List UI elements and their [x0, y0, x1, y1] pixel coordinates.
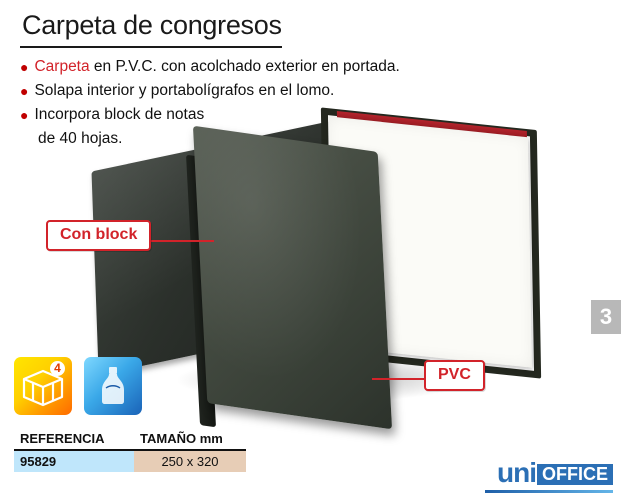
bullet-dot-icon: ● — [20, 80, 28, 102]
page-title: Carpeta de congresos — [22, 10, 282, 41]
table-header-row: REFERENCIA TAMAÑO mm — [14, 428, 246, 451]
list-item: ● Carpeta en P.V.C. con acolchado exteri… — [20, 56, 520, 78]
callout-con-block: Con block — [46, 220, 151, 251]
pvc-bottle-glyph — [84, 357, 142, 415]
pack-quantity-badge: 4 — [50, 361, 65, 376]
cell-tamano: 250 x 320 — [134, 451, 246, 472]
page-number-badge: 3 — [591, 300, 621, 334]
logo-underline — [485, 490, 613, 493]
attribute-icons: 4 — [14, 357, 150, 415]
bullet-highlight: Carpeta — [34, 58, 89, 75]
logo-uni-text: uni — [497, 459, 536, 487]
callout-leader-pvc — [372, 378, 427, 380]
pack-box-icon: 4 — [14, 357, 72, 415]
callout-leader-block — [150, 240, 214, 242]
bullet-text: en P.V.C. con acolchado exterior en port… — [90, 58, 400, 75]
brand-logo: uni OFFICE — [497, 459, 613, 487]
pvc-bottle-icon — [84, 357, 142, 415]
bullet-dot-icon: ● — [20, 56, 28, 78]
reference-table: REFERENCIA TAMAÑO mm 95829 250 x 320 — [14, 428, 246, 472]
folder-front-cover — [193, 126, 392, 430]
logo-office-text: OFFICE — [537, 464, 613, 485]
callout-pvc: PVC — [424, 360, 485, 391]
bullet-dot-icon: ● — [20, 104, 28, 126]
table-row: 95829 250 x 320 — [14, 451, 246, 472]
table-header-referencia: REFERENCIA — [14, 428, 134, 449]
title-underline — [20, 46, 282, 48]
list-item: ● Solapa interior y portabolígrafos en e… — [20, 80, 520, 102]
cell-referencia: 95829 — [14, 451, 134, 472]
bullet-text: Solapa interior y portabolígrafos en el … — [34, 80, 334, 102]
table-header-tamano: TAMAÑO mm — [134, 428, 246, 449]
